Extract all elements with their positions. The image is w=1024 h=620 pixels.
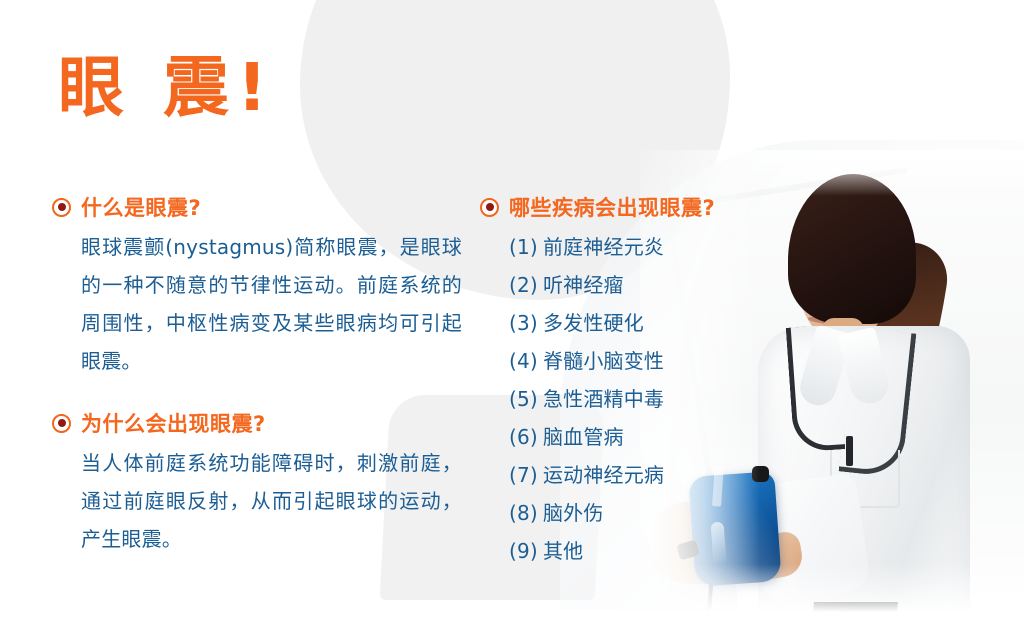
section-body-text: 当人体前庭系统功能障碍时，刺激前庭，通过前庭眼反射，从而引起眼球的运动，产生眼震… xyxy=(81,444,462,558)
list-item: (3)多发性硬化 xyxy=(509,304,780,342)
photo-fade-bottom xyxy=(640,564,1024,620)
photo-fade-top xyxy=(640,150,1024,196)
list-item-label: 其他 xyxy=(543,539,583,563)
list-item-label: 前庭神经元炎 xyxy=(543,235,664,259)
right-content-column: 哪些疾病会出现眼震? (1)前庭神经元炎(2)听神经瘤(3)多发性硬化(4)脊髓… xyxy=(480,192,780,570)
list-item-label: 急性酒精中毒 xyxy=(543,387,664,411)
list-item: (4)脊髓小脑变性 xyxy=(509,342,780,380)
section-diseases-with-nystagmus: 哪些疾病会出现眼震? (1)前庭神经元炎(2)听神经瘤(3)多发性硬化(4)脊髓… xyxy=(480,192,780,570)
list-item-label: 脑血管病 xyxy=(543,425,624,449)
left-content-column: 什么是眼震? 眼球震颤(nystagmus)简称眼震，是眼球的一种不随意的节律性… xyxy=(52,192,462,558)
section-heading-row: 为什么会出现眼震? xyxy=(52,408,462,438)
list-item: (5)急性酒精中毒 xyxy=(509,380,780,418)
section-heading-text: 什么是眼震? xyxy=(81,192,201,222)
list-item-label: 运动神经元病 xyxy=(543,463,664,487)
eye-bullet-icon xyxy=(52,414,71,433)
list-item: (9)其他 xyxy=(509,532,780,570)
list-item: (1)前庭神经元炎 xyxy=(509,228,780,266)
section-why-nystagmus-occurs: 为什么会出现眼震? 当人体前庭系统功能障碍时，刺激前庭，通过前庭眼反射，从而引起… xyxy=(52,408,462,558)
list-item: (7)运动神经元病 xyxy=(509,456,780,494)
list-item-label: 脑外伤 xyxy=(543,501,604,525)
section-body-text: 眼球震颤(nystagmus)简称眼震，是眼球的一种不随意的节律性运动。前庭系统… xyxy=(81,228,462,380)
list-item-label: 多发性硬化 xyxy=(543,311,644,335)
list-item: (2)听神经瘤 xyxy=(509,266,780,304)
slide-title: 眼 震! xyxy=(58,55,275,121)
list-item-number: (3) xyxy=(509,311,538,335)
list-item-number: (8) xyxy=(509,501,538,525)
photo-coat-pen xyxy=(846,436,853,466)
disease-list: (1)前庭神经元炎(2)听神经瘤(3)多发性硬化(4)脊髓小脑变性(5)急性酒精… xyxy=(509,228,780,570)
list-item-label: 脊髓小脑变性 xyxy=(543,349,664,373)
section-heading-row: 哪些疾病会出现眼震? xyxy=(480,192,780,222)
list-item-number: (5) xyxy=(509,387,538,411)
list-item-label: 听神经瘤 xyxy=(543,273,624,297)
section-what-is-nystagmus: 什么是眼震? 眼球震颤(nystagmus)简称眼震，是眼球的一种不随意的节律性… xyxy=(52,192,462,380)
section-heading-text: 哪些疾病会出现眼震? xyxy=(509,192,715,222)
list-item-number: (7) xyxy=(509,463,538,487)
list-item-number: (9) xyxy=(509,539,538,563)
list-item-number: (2) xyxy=(509,273,538,297)
list-item-number: (4) xyxy=(509,349,538,373)
section-heading-row: 什么是眼震? xyxy=(52,192,462,222)
eye-bullet-icon xyxy=(52,198,71,217)
eye-bullet-icon xyxy=(480,198,499,217)
list-item: (6)脑血管病 xyxy=(509,418,780,456)
list-item: (8)脑外伤 xyxy=(509,494,780,532)
list-item-number: (1) xyxy=(509,235,538,259)
list-item-number: (6) xyxy=(509,425,538,449)
section-heading-text: 为什么会出现眼震? xyxy=(81,408,266,438)
slide-root: 眼 震! 什么是眼震? 眼球震颤(nystagmus)简称眼震，是眼球的一种不随… xyxy=(0,0,1024,620)
